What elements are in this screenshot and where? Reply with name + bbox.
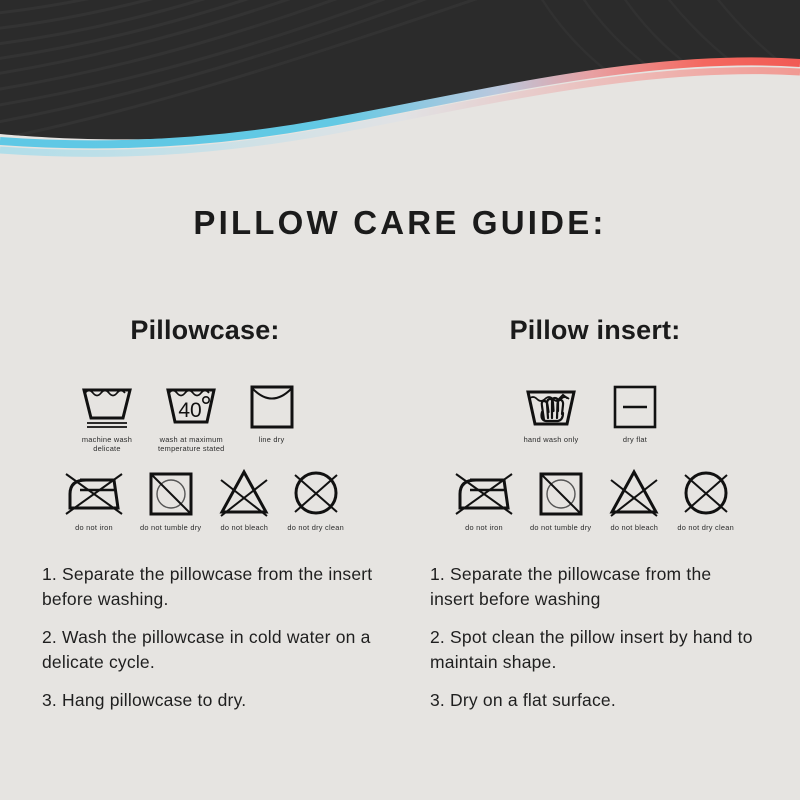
pillow-insert-symbol-row-1: hand wash only dry flat [522,378,660,444]
instruction-item: 2. Spot clean the pillow insert by hand … [430,625,760,675]
symbol-caption: do not dry clean [287,523,344,532]
symbol-line-dry: line dry [247,378,297,453]
wash-max-temperature-icon: 40 [162,378,220,430]
symbol-caption: do not tumble dry [140,523,201,532]
do-not-tumble-dry-icon [533,466,589,518]
symbol-caption: line dry [259,435,285,444]
line-dry-icon [247,378,297,430]
symbol-do-not-bleach: do not bleach [215,466,273,532]
symbol-caption: do not iron [75,523,113,532]
instruction-item: 3. Dry on a flat surface. [430,688,760,713]
symbol-caption: do not iron [465,523,503,532]
symbol-dry-flat: dry flat [610,378,660,444]
page-title: PILLOW CARE GUIDE: [0,204,800,242]
do-not-iron-icon [62,466,126,518]
dry-flat-icon [610,378,660,430]
instruction-item: 1. Separate the pillowcase from the inse… [430,562,760,612]
symbol-caption: machine wash delicate [82,435,132,453]
symbol-caption: do not tumble dry [530,523,591,532]
do-not-dry-clean-icon [678,466,734,518]
instruction-item: 3. Hang pillowcase to dry. [42,688,382,713]
symbol-do-not-iron: do not iron [62,466,126,532]
do-not-bleach-icon [215,466,273,518]
header-wave-banner [0,0,800,200]
symbol-do-not-dry-clean: do not dry clean [677,466,734,532]
symbol-caption: dry flat [623,435,647,444]
symbol-do-not-bleach: do not bleach [605,466,663,532]
symbol-wash-max-temperature: 40 wash at maximum temperature stated [158,378,225,453]
symbol-do-not-iron: do not iron [452,466,516,532]
hand-wash-only-icon [522,378,580,430]
section-heading-pillowcase: Pillowcase: [40,315,370,346]
machine-wash-delicate-icon [78,378,136,430]
symbol-do-not-tumble-dry: do not tumble dry [140,466,201,532]
symbol-do-not-dry-clean: do not dry clean [287,466,344,532]
symbol-caption: do not bleach [221,523,269,532]
symbol-hand-wash-only: hand wash only [522,378,580,444]
pillowcase-symbol-row-1: machine wash delicate 40 wash at maximum… [78,378,297,453]
symbol-machine-wash-delicate: machine wash delicate [78,378,136,453]
symbol-do-not-tumble-dry: do not tumble dry [530,466,591,532]
do-not-tumble-dry-icon [143,466,199,518]
do-not-dry-clean-icon [288,466,344,518]
section-heading-pillow-insert: Pillow insert: [430,315,760,346]
do-not-iron-icon [452,466,516,518]
symbol-caption: hand wash only [524,435,579,444]
instruction-item: 1. Separate the pillowcase from the inse… [42,562,382,612]
symbol-caption: do not dry clean [677,523,734,532]
svg-text:40: 40 [179,399,202,422]
care-guide-page: PILLOW CARE GUIDE: Pillowcase: Pillow in… [0,0,800,800]
pillow-insert-instructions: 1. Separate the pillowcase from the inse… [430,562,760,713]
symbol-caption: wash at maximum temperature stated [158,435,225,453]
pillowcase-symbol-row-2: do not iron do not tumble dry do not [62,466,344,532]
pillowcase-instructions: 1. Separate the pillowcase from the inse… [42,562,382,713]
symbol-caption: do not bleach [611,523,659,532]
do-not-bleach-icon [605,466,663,518]
pillow-insert-symbol-row-2: do not iron do not tumble dry do not [452,466,734,532]
instruction-item: 2. Wash the pillowcase in cold water on … [42,625,382,675]
